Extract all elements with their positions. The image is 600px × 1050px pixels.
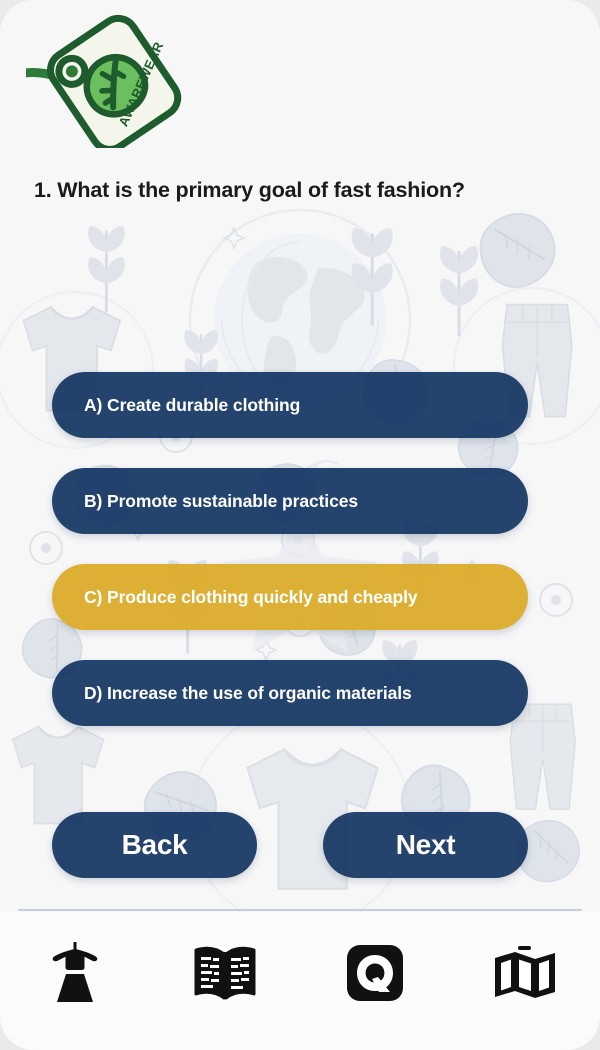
quiz-q-icon — [346, 944, 404, 1002]
answer-option-b-label: B) Promote sustainable practices — [84, 491, 358, 512]
answer-option-b[interactable]: B) Promote sustainable practices — [52, 468, 528, 534]
tab-learn[interactable] — [182, 938, 268, 1008]
tab-wardrobe[interactable] — [32, 938, 118, 1008]
tabbar-divider — [18, 909, 582, 911]
answer-option-d[interactable]: D) Increase the use of organic materials — [52, 660, 528, 726]
app-logo: AWAREWEAR — [26, 12, 190, 148]
answer-option-c-selected[interactable]: C) Produce clothing quickly and cheaply — [52, 564, 528, 630]
tab-quiz[interactable] — [332, 938, 418, 1008]
answer-options-list: A) Create durable clothing B) Promote su… — [52, 372, 528, 756]
quiz-question-text: 1. What is the primary goal of fast fash… — [34, 178, 574, 204]
dress-hanger-icon — [46, 942, 104, 1004]
answer-option-d-label: D) Increase the use of organic materials — [84, 683, 412, 704]
next-button[interactable]: Next — [323, 812, 528, 878]
open-book-icon — [192, 944, 258, 1002]
folded-map-icon — [492, 944, 558, 1002]
answer-option-a-label: A) Create durable clothing — [84, 395, 300, 416]
next-button-label: Next — [396, 829, 456, 861]
bottom-tab-bar — [0, 912, 600, 1050]
hangtag-leaf-icon: AWAREWEAR — [26, 12, 190, 148]
answer-option-c-label: C) Produce clothing quickly and cheaply — [84, 587, 418, 608]
tab-map[interactable] — [482, 938, 568, 1008]
back-button-label: Back — [122, 829, 188, 861]
back-button[interactable]: Back — [52, 812, 257, 878]
quiz-navigation: Back Next — [52, 812, 528, 878]
app-screen: AWAREWEAR 1. What is the primary goal of… — [0, 0, 600, 1050]
answer-option-a[interactable]: A) Create durable clothing — [52, 372, 528, 438]
